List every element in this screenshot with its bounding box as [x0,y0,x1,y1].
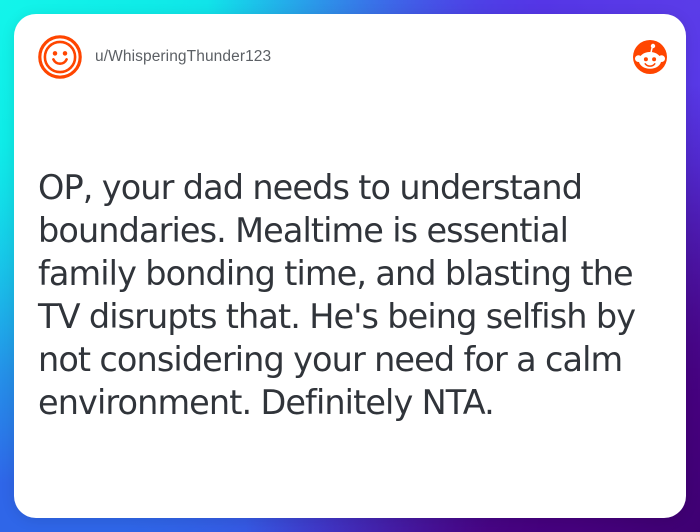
username-label: u/WhisperingThunder123 [95,49,271,65]
reddit-comment-card: u/WhisperingThunder123 OP, your dad need [14,14,686,518]
reddit-snoo-logo-icon[interactable] [632,39,668,75]
smiley-face-avatar-icon[interactable] [38,35,82,79]
screenshot-root: u/WhisperingThunder123 OP, your dad need [0,0,700,532]
card-header: u/WhisperingThunder123 [14,14,686,100]
post-body-text: OP, your dad needs to understand boundar… [38,166,658,424]
